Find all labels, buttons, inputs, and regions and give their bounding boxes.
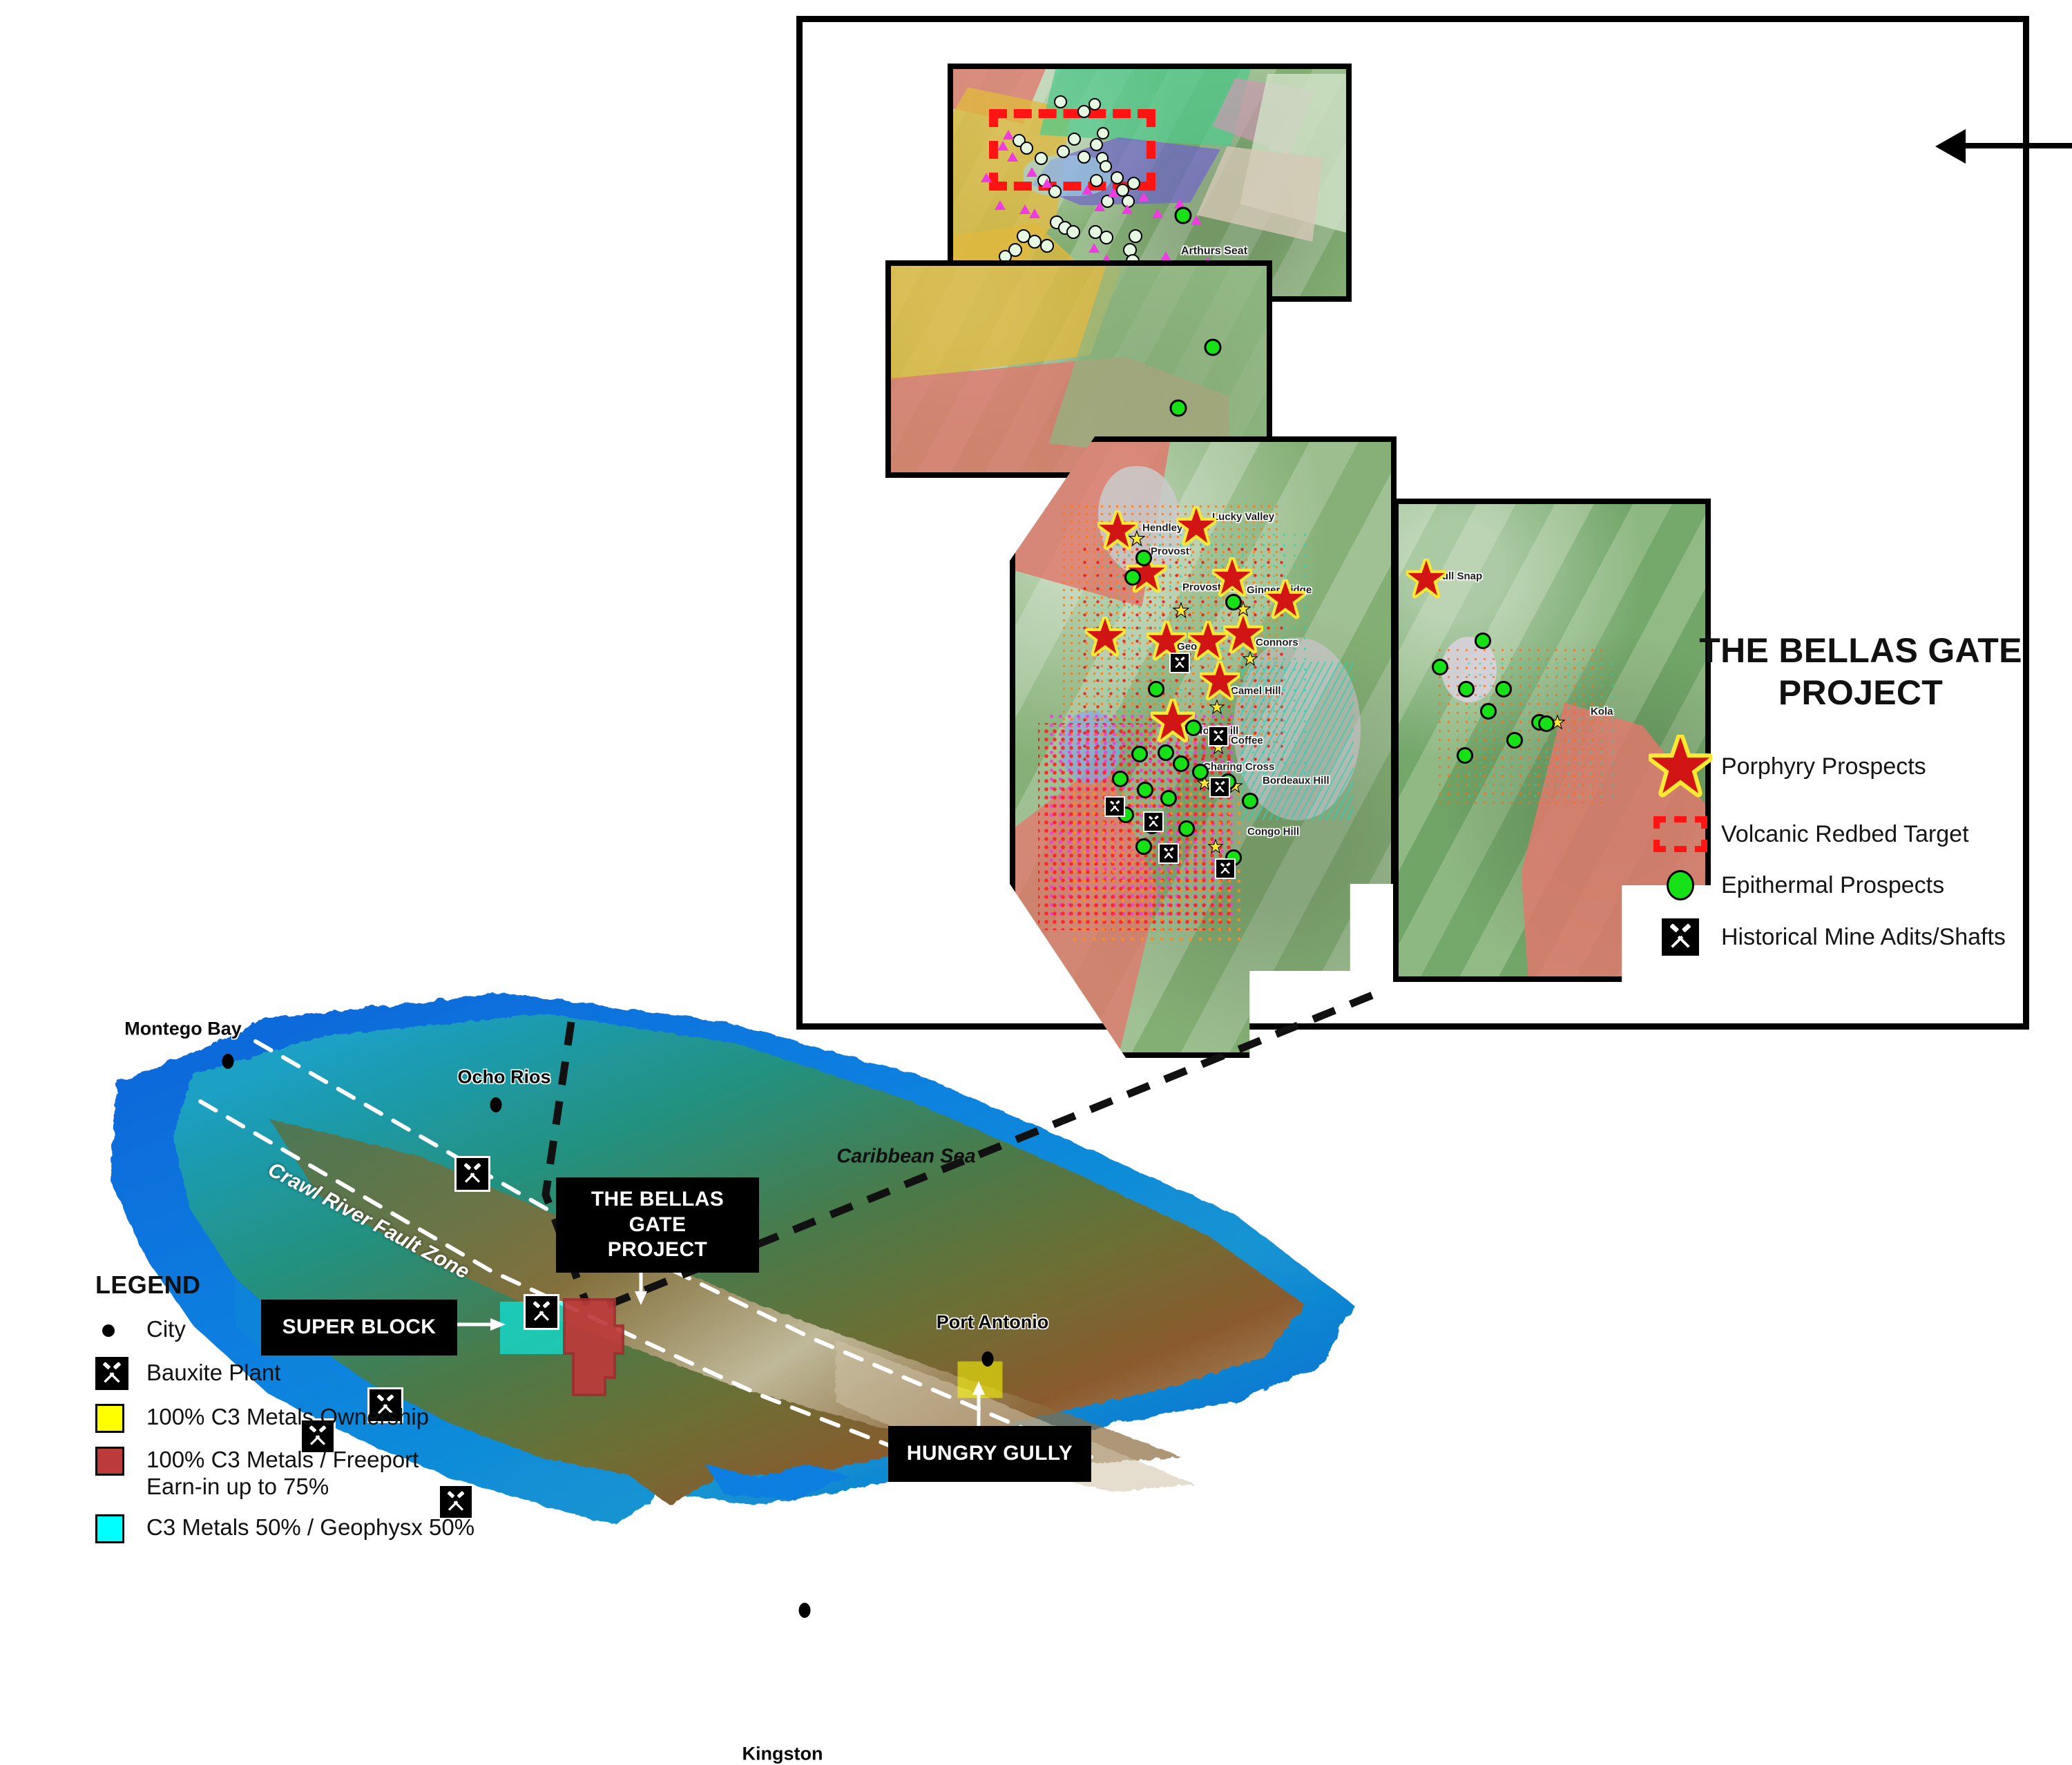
city-dot-port-antonio: [982, 1351, 994, 1367]
porphyry-prospect-star: [1212, 557, 1252, 597]
epithermal-prospect: [1458, 681, 1475, 697]
epithermal-prospect: [1205, 339, 1222, 356]
legend-label-ownership: 100% C3 Metals Ownership: [146, 1402, 429, 1431]
epithermal-prospect: [1432, 659, 1448, 675]
red-star-icon: [1640, 735, 1721, 798]
yellow-swatch: [95, 1402, 146, 1433]
legend-label-redbed: Volcanic Redbed Target: [1721, 821, 1969, 848]
epithermal-prospect: [1475, 633, 1491, 649]
small-prospect-star: [1129, 530, 1145, 547]
city-dot-ocho-rios: [490, 1097, 502, 1112]
map-legend: LEGEND City Bauxite Plant 100% C3 Metals…: [95, 1271, 524, 1556]
epithermal-prospect: [1495, 681, 1512, 697]
red-dashed-box-icon: [1640, 816, 1721, 852]
epithermal-prospect: [1124, 569, 1141, 586]
epithermal-prospect: [1170, 400, 1187, 417]
mine-adit-icon: [1640, 918, 1721, 956]
legend-row-epithermal: Epithermal Prospects: [1640, 870, 2072, 900]
epithermal-prospect: [1135, 550, 1152, 566]
small-prospect-star: [1243, 651, 1258, 666]
legend-row-freeport: 100% C3 Metals / Freeport Earn-in up to …: [95, 1445, 524, 1501]
bauxite-plant-icon: [95, 1356, 146, 1390]
legend-label-bauxite: Bauxite Plant: [146, 1356, 280, 1387]
city-label-montego-bay: Montego Bay: [124, 1019, 242, 1040]
mine-adit-icon: [1158, 843, 1179, 864]
epithermal-prospect: [1137, 782, 1153, 798]
epithermal-prospect: [1185, 720, 1202, 736]
prospect-label-coffee: Coffee: [1231, 735, 1263, 746]
city-label-port-antonio: Port Antonio: [937, 1312, 1048, 1333]
bauxite-plant-icon: [524, 1294, 559, 1330]
mine-adit-icon: [1143, 811, 1164, 832]
epithermal-prospect: [1538, 715, 1555, 732]
callout-bellas-gate: THE BELLAS GATE PROJECT: [556, 1177, 759, 1273]
prospect-label-charing-cross: Charing Cross: [1203, 761, 1274, 773]
red-swatch: [95, 1445, 146, 1476]
legend-row-city: City: [95, 1316, 524, 1343]
porphyry-prospect-star: [1085, 617, 1125, 657]
legend-row-adits: Historical Mine Adits/Shafts: [1640, 918, 2072, 956]
epithermal-prospect: [1148, 681, 1164, 697]
city-label-ocho-rios: Ocho Rios: [457, 1067, 550, 1088]
epithermal-prospect: [1225, 594, 1242, 610]
porphyry-prospect-star: [1265, 579, 1305, 619]
cyan-swatch: [95, 1513, 146, 1543]
epithermal-prospect: [1175, 207, 1192, 224]
legend-row-ownership: 100% C3 Metals Ownership: [95, 1402, 524, 1433]
prospect-label-congo-hill: Congo Hill: [1247, 826, 1299, 838]
epithermal-prospect: [1112, 771, 1129, 787]
annotation-arrow-head: [1935, 129, 1966, 164]
small-prospect-star: [1173, 602, 1189, 619]
prospect-label-bordeaux-hill: Bordeaux Hill: [1263, 775, 1330, 787]
porphyry-prospect-star: [1176, 506, 1216, 546]
legend-label-geophysx: C3 Metals 50% / Geophysx 50%: [146, 1513, 474, 1541]
epithermal-prospect: [1173, 755, 1189, 772]
inset-title-line-2: PROJECT: [1640, 672, 2072, 714]
city-dot-montego-bay: [222, 1054, 234, 1069]
legend-row-redbed: Volcanic Redbed Target: [1640, 816, 2072, 852]
legend-label-city: City: [146, 1316, 186, 1343]
city-dot-icon: [95, 1316, 146, 1337]
legend-row-porphyry: Porphyry Prospects: [1640, 735, 2072, 798]
epithermal-prospect: [1457, 747, 1473, 764]
geochem-cloud-east-teal: [1460, 655, 1620, 807]
green-circle-icon: [1640, 870, 1721, 900]
epithermal-prospect: [1242, 793, 1258, 809]
prospect-label-lucky-valley: Lucky Valley: [1212, 511, 1274, 523]
city-dot-kingston: [799, 1603, 811, 1618]
caribbean-sea-label: Caribbean Sea: [836, 1146, 975, 1168]
epithermal-prospect: [1178, 820, 1195, 837]
bauxite-plant-icon: [454, 1156, 490, 1192]
epithermal-prospect: [1480, 703, 1497, 720]
bellas-gate-inset-panel: Arthurs Seat: [796, 16, 2029, 1030]
inset-legend: THE BELLAS GATE PROJECT Porphyry Prospec…: [1640, 630, 2072, 974]
legend-label-freeport: 100% C3 Metals / Freeport Earn-in up to …: [146, 1445, 419, 1501]
legend-row-geophysx: C3 Metals 50% / Geophysx 50%: [95, 1513, 524, 1543]
map-legend-title: LEGEND: [95, 1271, 524, 1300]
mine-adit-icon: [1209, 777, 1230, 798]
porphyry-prospect-star: [1200, 661, 1240, 701]
annotation-arrow-shaft: [1959, 143, 2072, 148]
legend-row-bauxite: Bauxite Plant: [95, 1356, 524, 1390]
inset-title: THE BELLAS GATE PROJECT: [1640, 630, 2072, 714]
mine-adit-icon: [1104, 796, 1125, 817]
legend-label-porphyry: Porphyry Prospects: [1721, 753, 1926, 780]
mine-adit-icon: [1169, 653, 1190, 673]
inset-title-line-1: THE BELLAS GATE: [1640, 630, 2072, 672]
geology-block-main: Hendley Lucky Valley Provost Provost SE …: [1010, 436, 1397, 1058]
prospect-label-arthurs-seat: Arthurs Seat: [1181, 245, 1247, 258]
small-prospect-star: [1209, 700, 1225, 715]
porphyry-prospect-star: [1406, 559, 1446, 599]
legend-label-adits: Historical Mine Adits/Shafts: [1721, 924, 2006, 951]
small-prospect-star: [1208, 839, 1223, 854]
porphyry-prospect-star: [1223, 614, 1263, 654]
epithermal-prospect: [1160, 790, 1177, 807]
mine-adit-icon: [1208, 726, 1229, 746]
epithermal-prospect: [1506, 732, 1523, 749]
epithermal-prospect: [1131, 746, 1148, 762]
epithermal-prospect: [1158, 744, 1174, 761]
epithermal-prospect: [1135, 838, 1152, 855]
legend-label-epithermal: Epithermal Prospects: [1721, 872, 1944, 899]
prospect-label-kola: Kola: [1591, 706, 1613, 717]
epithermal-prospect: [1192, 764, 1209, 780]
mine-adit-icon: [1215, 858, 1236, 879]
callout-hungry-gully: HUNGRY GULLY: [888, 1426, 1091, 1482]
porphyry-prospect-star: [1188, 621, 1228, 661]
city-label-kingston: Kingston: [742, 1744, 823, 1765]
